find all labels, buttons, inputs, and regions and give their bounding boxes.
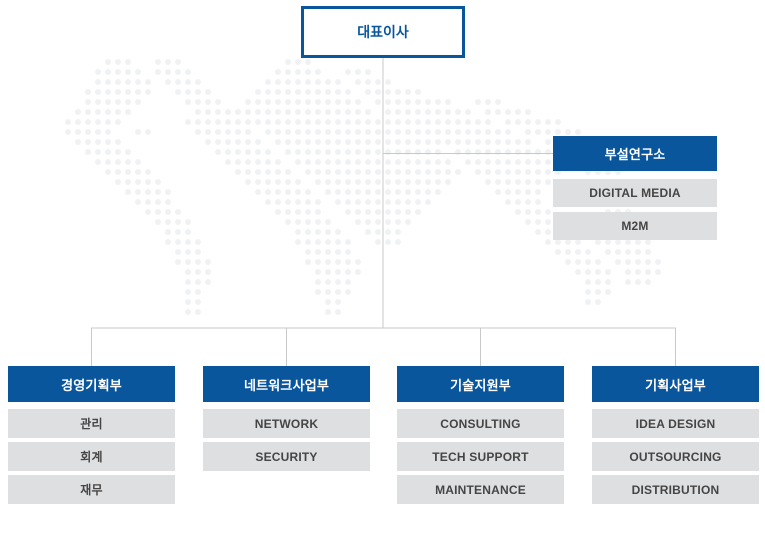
node-dept-head-management-planning[interactable]: 경영기획부 (8, 366, 175, 402)
node-dept-sub[interactable]: DISTRIBUTION (592, 475, 759, 504)
node-dept-sub-label: 관리 (80, 415, 102, 432)
node-lab-sub-m2m[interactable]: M2M (553, 212, 717, 240)
node-dept-sub-label: 회계 (80, 448, 102, 465)
node-dept-sub-label: DISTRIBUTION (632, 483, 720, 497)
node-dept-sub-label: NETWORK (255, 417, 318, 431)
node-dept-head-planning-business[interactable]: 기획사업부 (592, 366, 759, 402)
node-dept-head-label: 경영기획부 (61, 375, 122, 394)
node-dept-sub[interactable]: 재무 (8, 475, 175, 504)
node-dept-sub[interactable]: MAINTENANCE (397, 475, 564, 504)
node-lab-sub-label: DIGITAL MEDIA (589, 186, 681, 200)
node-dept-head-tech-support[interactable]: 기술지원부 (397, 366, 564, 402)
node-dept-sub-label: OUTSOURCING (629, 450, 721, 464)
node-dept-sub-label: TECH SUPPORT (432, 450, 528, 464)
node-dept-sub-label: 재무 (80, 481, 102, 498)
node-lab-sub-label: M2M (621, 219, 648, 233)
node-ceo[interactable]: 대표이사 (301, 6, 465, 58)
node-dept-sub-label: IDEA DESIGN (636, 417, 716, 431)
node-dept-head-label: 기획사업부 (645, 375, 706, 394)
node-dept-head-label: 기술지원부 (450, 375, 511, 394)
node-dept-sub[interactable]: SECURITY (203, 442, 370, 471)
node-dept-sub[interactable]: OUTSOURCING (592, 442, 759, 471)
node-lab-head[interactable]: 부설연구소 (553, 136, 717, 171)
node-dept-sub-label: MAINTENANCE (435, 483, 526, 497)
node-dept-sub[interactable]: 회계 (8, 442, 175, 471)
node-dept-sub[interactable]: NETWORK (203, 409, 370, 438)
node-dept-sub-label: SECURITY (255, 450, 317, 464)
node-lab-head-label: 부설연구소 (605, 144, 666, 163)
node-dept-sub-label: CONSULTING (440, 417, 520, 431)
node-dept-sub[interactable]: TECH SUPPORT (397, 442, 564, 471)
node-dept-head-network-business[interactable]: 네트워크사업부 (203, 366, 370, 402)
org-chart: 대표이사 부설연구소 DIGITAL MEDIA M2M 경영기획부 관리 회계… (0, 0, 765, 544)
node-dept-sub[interactable]: 관리 (8, 409, 175, 438)
node-lab-sub-digital-media[interactable]: DIGITAL MEDIA (553, 179, 717, 207)
node-dept-sub[interactable]: IDEA DESIGN (592, 409, 759, 438)
node-dept-head-label: 네트워크사업부 (244, 375, 329, 394)
node-dept-sub[interactable]: CONSULTING (397, 409, 564, 438)
node-ceo-label: 대표이사 (357, 22, 409, 42)
